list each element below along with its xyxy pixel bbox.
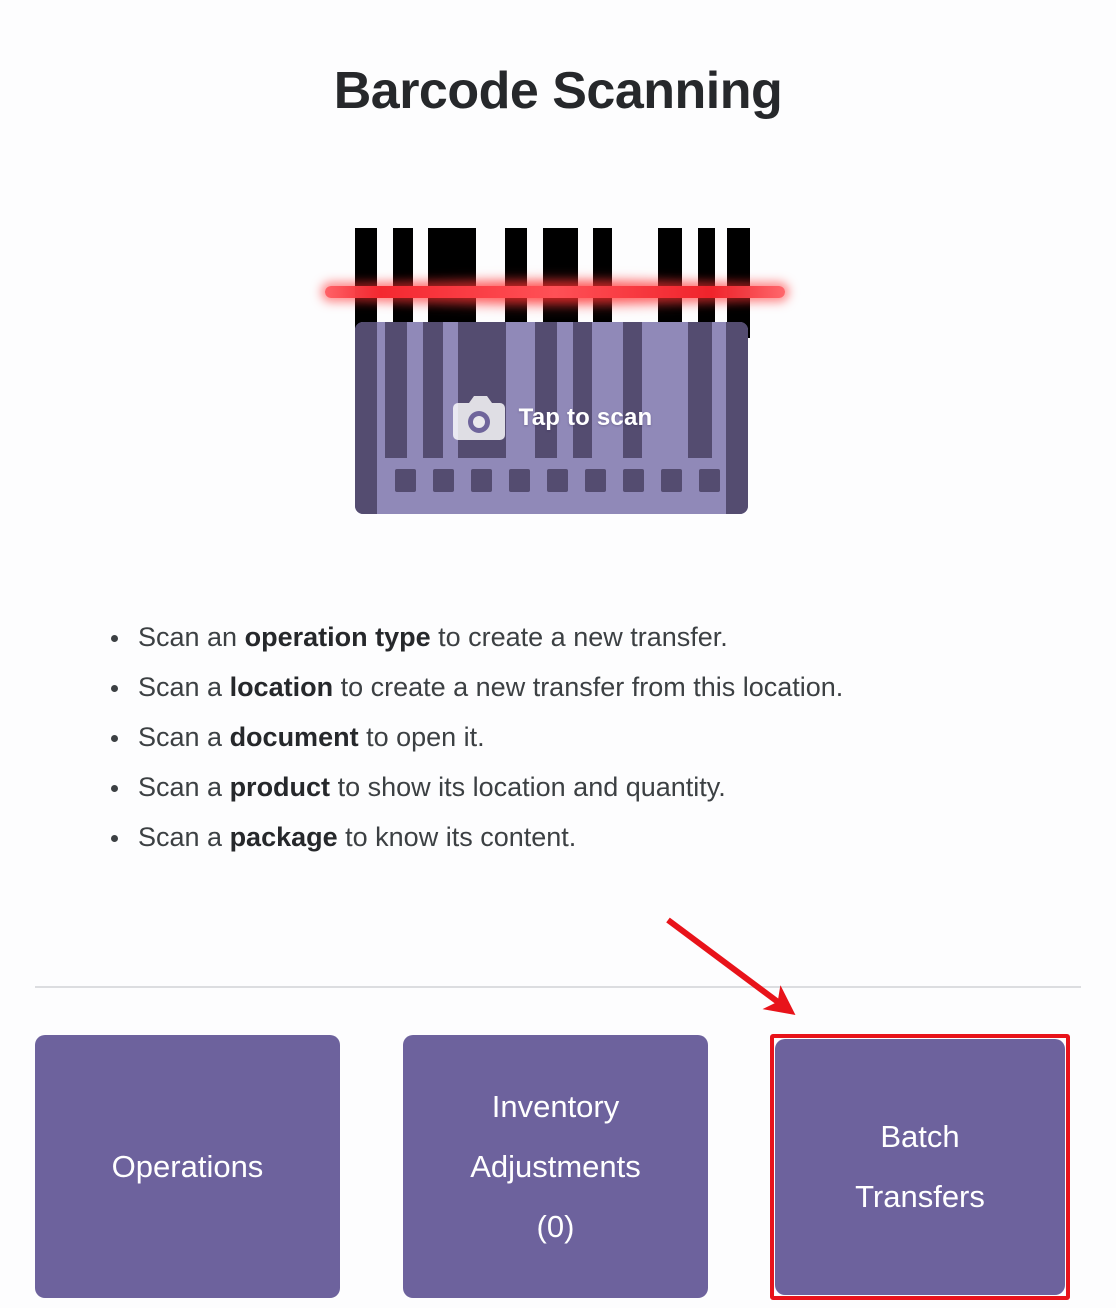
barcode-scan-widget[interactable]: Tap to scan [300, 210, 820, 530]
instruction-prefix: Scan a [138, 822, 230, 852]
instruction-keyword: location [230, 672, 334, 702]
laser-line-icon [325, 286, 785, 298]
instruction-item: Scan a product to show its location and … [108, 762, 1068, 812]
tap-to-scan-overlay[interactable]: Tap to scan [355, 322, 748, 514]
instruction-suffix: to know its content. [338, 822, 577, 852]
instruction-item: Scan a document to open it. [108, 712, 1068, 762]
batch-transfers-button[interactable]: Batch Transfers [775, 1039, 1065, 1295]
camera-icon [451, 393, 507, 443]
annotation-arrow-icon [640, 895, 840, 1035]
inventory-adjustments-button[interactable]: Inventory Adjustments (0) [403, 1035, 708, 1298]
action-button-row: Batch TransfersInventory Adjustments (0)… [35, 1035, 1081, 1300]
instruction-suffix: to create a new transfer from this locat… [333, 672, 843, 702]
instruction-item: Scan an operation type to create a new t… [108, 612, 1068, 662]
operations-button[interactable]: Operations [35, 1035, 340, 1298]
instruction-suffix: to show its location and quantity. [330, 772, 726, 802]
instruction-keyword: product [230, 772, 331, 802]
instruction-keyword: operation type [245, 622, 431, 652]
instruction-list: Scan an operation type to create a new t… [108, 612, 1068, 862]
divider [35, 986, 1081, 988]
tap-to-scan-label: Tap to scan [519, 404, 653, 432]
instruction-keyword: package [230, 822, 338, 852]
instruction-suffix: to create a new transfer. [431, 622, 728, 652]
instruction-keyword: document [230, 722, 359, 752]
instruction-prefix: Scan an [138, 622, 245, 652]
barcode-scanning-screen: Barcode Scanning Tap to scan Scan an op [0, 0, 1116, 1308]
page-title: Barcode Scanning [0, 62, 1116, 122]
instruction-prefix: Scan a [138, 722, 230, 752]
instruction-prefix: Scan a [138, 772, 230, 802]
scan-panel[interactable]: Tap to scan [355, 322, 748, 514]
instruction-item: Scan a package to know its content. [108, 812, 1068, 862]
instruction-suffix: to open it. [359, 722, 485, 752]
instruction-prefix: Scan a [138, 672, 230, 702]
instruction-item: Scan a location to create a new transfer… [108, 662, 1068, 712]
